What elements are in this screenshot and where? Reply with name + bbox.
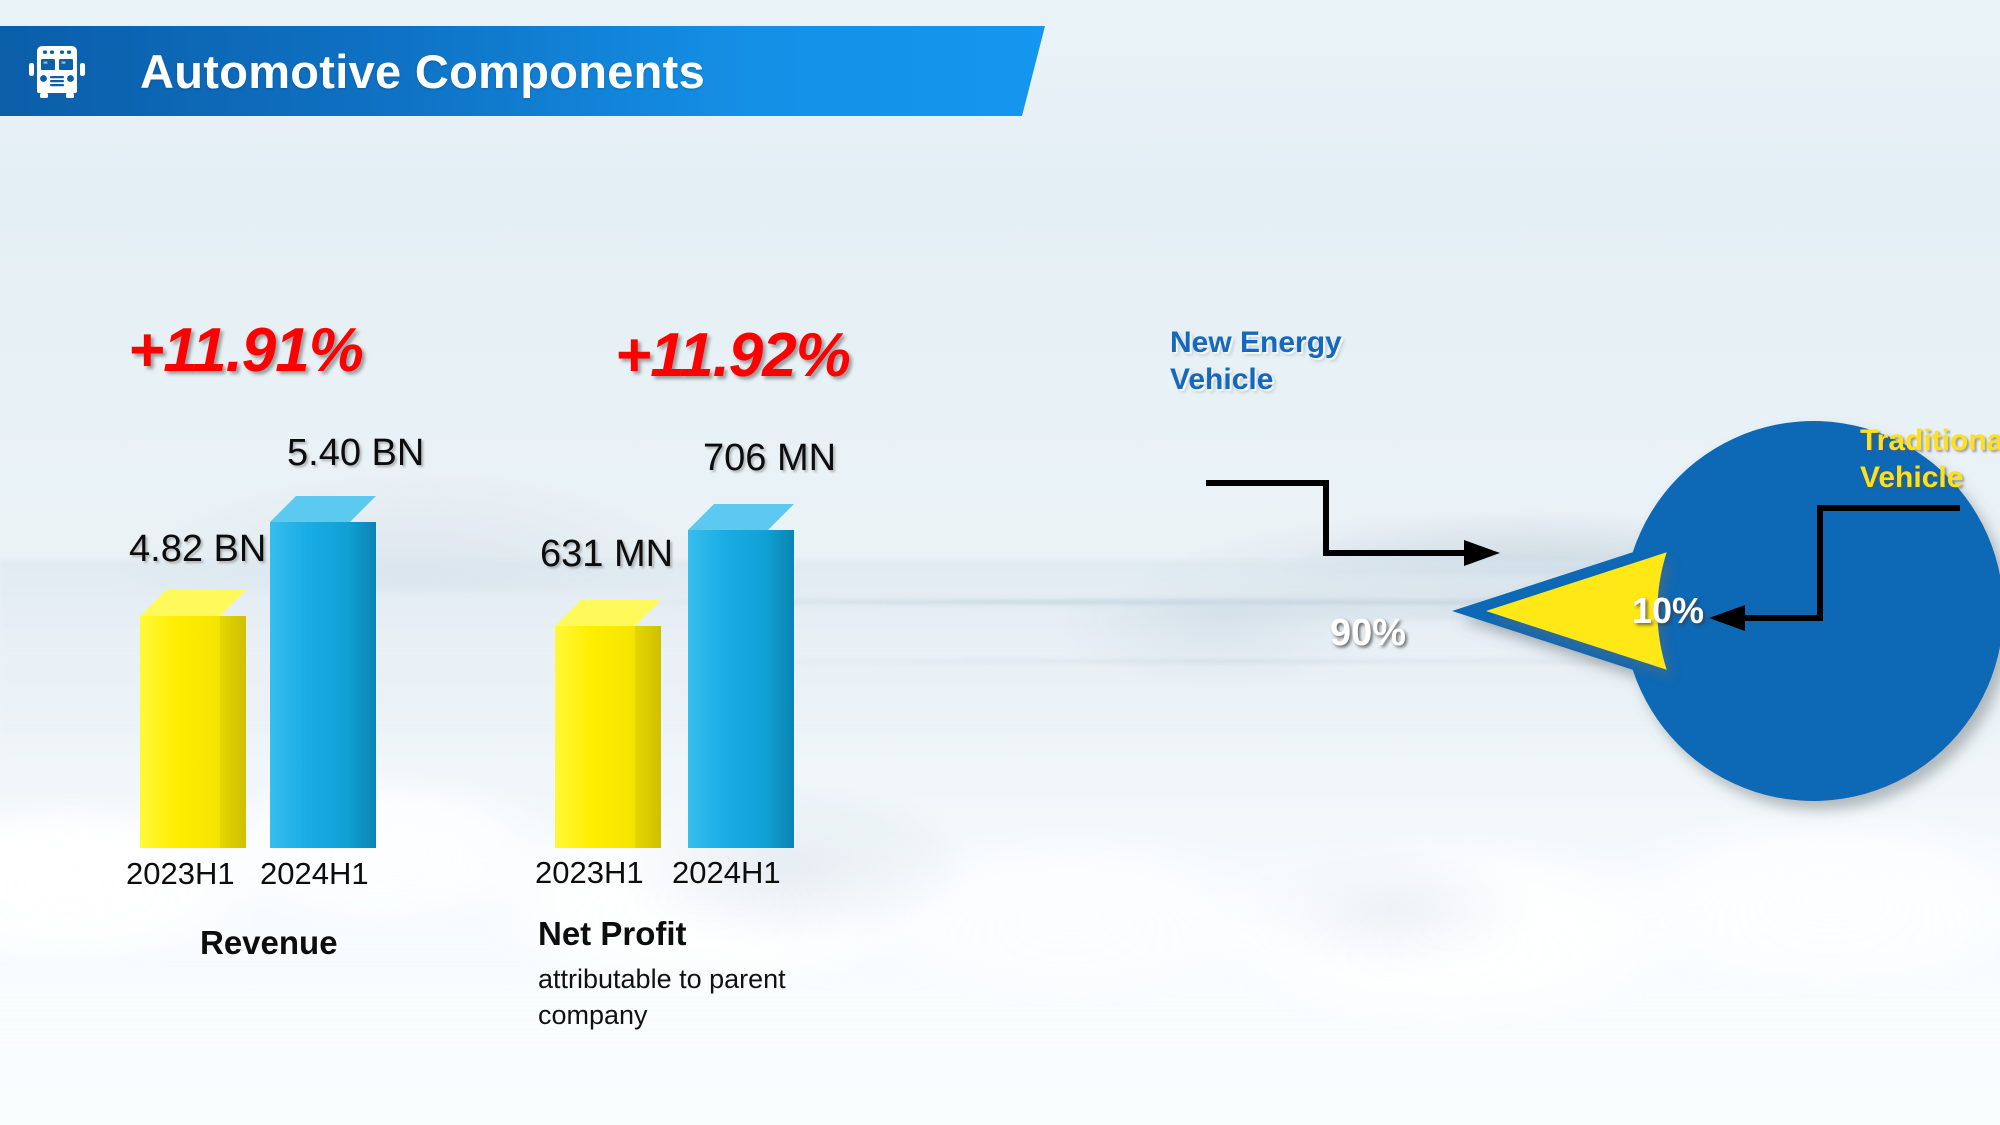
net-profit-bar-2024 — [688, 504, 794, 848]
new-energy-vehicle-callout-line2: Vehicle — [1170, 362, 1342, 399]
bar-front-face — [555, 626, 635, 848]
net-profit-bar-2023 — [555, 600, 661, 848]
bar-front-face — [140, 616, 220, 848]
net-profit-series-title: Net Profit — [538, 915, 687, 953]
bar-top-face — [140, 590, 246, 616]
new-energy-vehicle-percent: 90% — [1330, 612, 1406, 655]
net-profit-chart: +11.92% 631 MN 706 MN 2023H1 2024H1 Net … — [420, 0, 1020, 1060]
bar-side-face — [350, 522, 376, 848]
revenue-series-title: Revenue — [200, 924, 338, 962]
vehicle-mix-pie-chart: New Energy Vehicle Traditional Vehicle 9… — [1200, 390, 2000, 860]
traditional-vehicle-callout-line2: Vehicle — [1860, 460, 2000, 497]
bar-front-face — [270, 522, 350, 848]
net-profit-value-2023: 631 MN — [540, 533, 673, 576]
traditional-vehicle-percent: 10% — [1632, 590, 1704, 632]
new-energy-vehicle-callout: New Energy Vehicle — [1170, 325, 1342, 398]
net-profit-xtick-2024: 2024H1 — [672, 855, 781, 891]
revenue-xtick-2023: 2023H1 — [126, 856, 235, 892]
traditional-vehicle-callout-line1: Traditional — [1860, 423, 2000, 460]
new-energy-vehicle-leader-line — [1206, 483, 1500, 566]
bar-top-face — [555, 600, 661, 626]
revenue-growth-label: +11.91% — [128, 315, 363, 386]
net-profit-growth-label: +11.92% — [615, 320, 850, 391]
revenue-bar-2024 — [270, 496, 376, 848]
net-profit-xtick-2023: 2023H1 — [535, 855, 644, 891]
bar-top-face — [270, 496, 376, 522]
traditional-vehicle-callout: Traditional Vehicle — [1860, 423, 2000, 496]
revenue-bar-2023 — [140, 590, 246, 848]
revenue-xtick-2024: 2024H1 — [260, 856, 369, 892]
revenue-value-2023: 4.82 BN — [129, 528, 266, 571]
net-profit-series-subtitle: attributable to parent company — [538, 962, 868, 1033]
bar-side-face — [635, 626, 661, 848]
slide-canvas: Automotive Components +11.91% 4.82 BN 5.… — [0, 0, 2000, 1125]
bar-side-face — [768, 530, 794, 848]
bar-side-face — [220, 616, 246, 848]
bar-front-face — [688, 530, 768, 848]
new-energy-vehicle-callout-line1: New Energy — [1170, 325, 1342, 362]
revenue-value-2024: 5.40 BN — [287, 432, 424, 475]
bar-top-face — [688, 504, 794, 530]
net-profit-value-2024: 706 MN — [703, 437, 836, 480]
